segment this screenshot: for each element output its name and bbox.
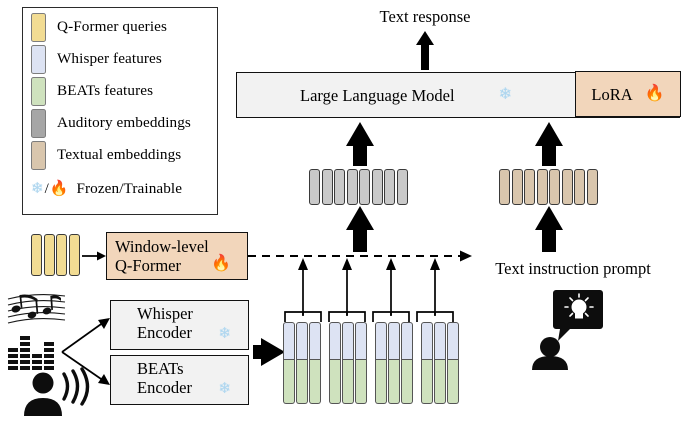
whisper-encoder-label-line2: Encoder <box>137 323 193 342</box>
legend-item-qformer-queries: Q-Former queries <box>31 12 167 42</box>
auditory-embeddings-strip <box>309 169 408 205</box>
lora-block[interactable]: LoRA 🔥 <box>575 71 681 117</box>
beats-feature-cell <box>447 360 459 404</box>
feature-column <box>342 322 354 404</box>
feature-column <box>375 322 387 404</box>
user-lightbulb-speech-bubble-icon <box>518 288 608 370</box>
legend-separator: / <box>45 181 49 198</box>
legend-item-beats-features: BEATs features <box>31 76 153 106</box>
beats-feature-cell <box>329 360 341 404</box>
auditory-embedding-token <box>347 169 358 205</box>
window-level-qformer-block[interactable]: Window-level Q-Former 🔥 <box>106 232 248 280</box>
whisper-feature-cell <box>283 322 295 360</box>
feature-column <box>401 322 413 404</box>
whisper-feature-cell <box>388 322 400 360</box>
textual-embedding-token <box>549 169 560 205</box>
feature-column <box>434 322 446 404</box>
auditory-embedding-token <box>397 169 408 205</box>
textual-embedding-token <box>537 169 548 205</box>
beats-feature-cell <box>388 360 400 404</box>
snowflake-icon: ❄ <box>31 182 44 197</box>
legend-swatch-beats-features <box>31 77 46 106</box>
beats-encoder-label-line2: Encoder <box>137 378 192 397</box>
audio-equalizer-icon <box>8 328 66 370</box>
legend-item-auditory-embeddings: Auditory embeddings <box>31 108 191 138</box>
beats-feature-cell <box>309 360 321 404</box>
legend-label-frozen-trainable: Frozen/Trainable <box>76 180 182 198</box>
beats-feature-cell <box>421 360 433 404</box>
whisper-feature-cell <box>296 322 308 360</box>
qformer-query-token <box>31 234 42 276</box>
beats-encoder-block[interactable]: BEATs Encoder ❄ <box>110 355 249 405</box>
whisper-encoder-block[interactable]: Whisper Encoder ❄ <box>110 300 249 350</box>
text-response-label: Text response <box>380 7 471 27</box>
feature-column <box>447 322 459 404</box>
whisper-feature-cell <box>309 322 321 360</box>
feature-column <box>421 322 433 404</box>
feature-column-group <box>421 322 459 404</box>
feature-column-group <box>375 322 413 404</box>
snowflake-icon: ❄ <box>218 327 231 342</box>
feature-column <box>283 322 295 404</box>
textual-embedding-token <box>512 169 523 205</box>
auditory-embedding-token <box>334 169 345 205</box>
feature-column-group <box>283 322 321 404</box>
legend-item-textual-embeddings: Textual embeddings <box>31 140 181 170</box>
auditory-embedding-token <box>384 169 395 205</box>
audio-feature-columns <box>283 322 459 404</box>
feature-column <box>329 322 341 404</box>
legend-label-qformer-queries: Q-Former queries <box>57 18 167 36</box>
beats-feature-cell <box>283 360 295 404</box>
large-language-model-block[interactable]: Large Language Model ❄ LoRA 🔥 <box>236 72 680 118</box>
beats-encoder-label-line1: BEATs <box>137 359 192 378</box>
auditory-embedding-token <box>322 169 333 205</box>
textual-embedding-token <box>524 169 535 205</box>
legend-item-whisper-features: Whisper features <box>31 44 162 74</box>
lora-label: LoRA <box>591 85 632 104</box>
whisper-feature-cell <box>355 322 367 360</box>
qformer-query-token <box>69 234 80 276</box>
auditory-embedding-token <box>309 169 320 205</box>
whisper-feature-cell <box>329 322 341 360</box>
whisper-feature-cell <box>421 322 433 360</box>
whisper-feature-cell <box>401 322 413 360</box>
textual-embedding-token <box>587 169 598 205</box>
legend-label-whisper-features: Whisper features <box>57 50 162 68</box>
fire-icon: 🔥 <box>645 86 665 102</box>
legend-swatch-whisper-features <box>31 45 46 74</box>
text-instruction-prompt-label: Text instruction prompt <box>495 259 651 279</box>
textual-embedding-token <box>574 169 585 205</box>
qformer-query-token <box>44 234 55 276</box>
whisper-encoder-label-line1: Whisper <box>137 304 193 323</box>
fire-icon: 🔥 <box>50 182 69 197</box>
legend-swatch-textual-embeddings <box>31 141 46 170</box>
music-notes-icon <box>7 290 67 330</box>
snowflake-icon: ❄ <box>218 382 231 397</box>
feature-column <box>296 322 308 404</box>
whisper-feature-cell <box>342 322 354 360</box>
llm-label: Large Language Model <box>300 86 455 105</box>
whisper-feature-cell <box>375 322 387 360</box>
textual-embeddings-strip <box>499 169 598 205</box>
beats-feature-cell <box>342 360 354 404</box>
auditory-embedding-token <box>372 169 383 205</box>
feature-column-group <box>329 322 367 404</box>
legend-label-textual-embeddings: Textual embeddings <box>57 146 181 164</box>
legend-item-frozen-trainable: ❄ / 🔥 Frozen/Trainable <box>31 174 182 204</box>
legend-swatch-qformer-queries <box>31 13 46 42</box>
whisper-feature-cell <box>434 322 446 360</box>
snowflake-icon: ❄ <box>499 87 512 103</box>
fire-icon: 🔥 <box>211 256 231 272</box>
person-speaking-icon <box>24 368 90 416</box>
qformer-queries-strip <box>31 234 80 276</box>
qformer-label-line1: Window-level <box>115 237 209 256</box>
feature-column <box>309 322 321 404</box>
frozen-trainable-icons: ❄ / 🔥 <box>31 181 68 198</box>
textual-embedding-token <box>499 169 510 205</box>
beats-feature-cell <box>434 360 446 404</box>
legend-panel: Q-Former queries Whisper features BEATs … <box>22 7 218 215</box>
feature-column <box>388 322 400 404</box>
qformer-query-token <box>56 234 67 276</box>
legend-label-beats-features: BEATs features <box>57 82 153 100</box>
qformer-label-line2: Q-Former <box>115 256 209 275</box>
whisper-feature-cell <box>447 322 459 360</box>
auditory-embedding-token <box>359 169 370 205</box>
beats-feature-cell <box>355 360 367 404</box>
beats-feature-cell <box>375 360 387 404</box>
feature-column <box>355 322 367 404</box>
beats-feature-cell <box>296 360 308 404</box>
textual-embedding-token <box>562 169 573 205</box>
beats-feature-cell <box>401 360 413 404</box>
legend-label-auditory-embeddings: Auditory embeddings <box>57 114 191 132</box>
legend-swatch-auditory-embeddings <box>31 109 46 138</box>
